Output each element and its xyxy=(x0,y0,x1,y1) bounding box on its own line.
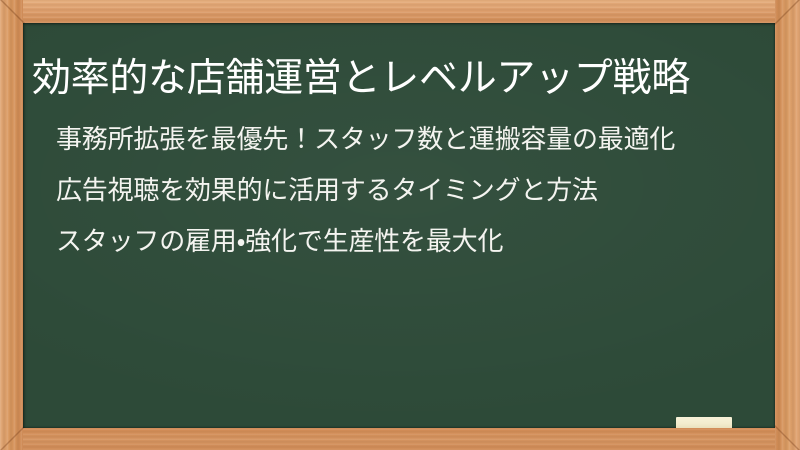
bullet-list: 事務所拡張を最優先！スタッフ数と運搬容量の最適化 広告視聴を効果的に活用するタイ… xyxy=(56,123,756,258)
frame-rail-top xyxy=(0,0,800,23)
frame-rail-left xyxy=(0,0,23,450)
list-item: スタッフの雇用・強化で生産性を最大化 xyxy=(56,225,756,258)
list-item: 広告視聴を効果的に活用するタイミングと方法 xyxy=(56,174,756,207)
chalk-stick-icon xyxy=(676,417,732,428)
chalkboard-surface: 効率的な店舗運営とレベルアップ戦略 事務所拡張を最優先！スタッフ数と運搬容量の最… xyxy=(23,23,775,428)
frame-rail-right xyxy=(775,0,800,450)
chalkboard-content: 効率的な店舗運営とレベルアップ戦略 事務所拡張を最優先！スタッフ数と運搬容量の最… xyxy=(23,23,775,428)
frame-rail-bottom xyxy=(0,428,800,450)
page-title: 効率的な店舗運営とレベルアップ戦略 xyxy=(32,52,770,106)
chalkboard-slide: 効率的な店舗運営とレベルアップ戦略 事務所拡張を最優先！スタッフ数と運搬容量の最… xyxy=(0,0,800,450)
list-item: 事務所拡張を最優先！スタッフ数と運搬容量の最適化 xyxy=(56,123,756,156)
